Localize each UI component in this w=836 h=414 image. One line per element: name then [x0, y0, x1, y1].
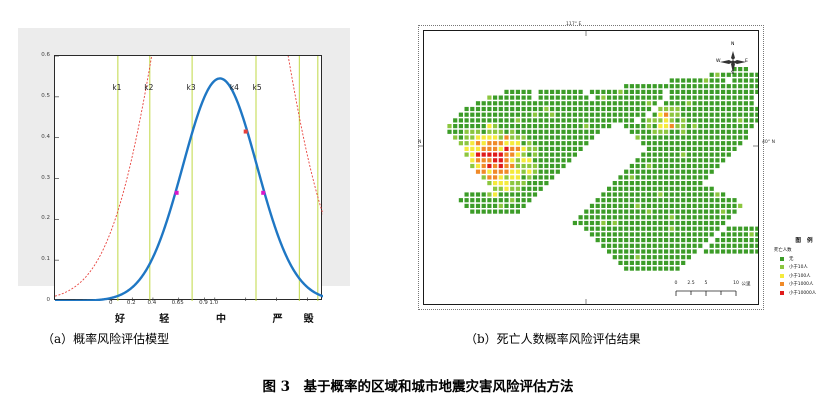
map-grid-cell: [601, 215, 605, 219]
map-grid-cell: [539, 181, 543, 185]
map-grid-cell: [630, 267, 634, 271]
map-grid-cell: [704, 78, 708, 82]
map-grid-cell: [755, 73, 758, 77]
map-grid-cell: [504, 192, 508, 196]
map-grid-cell: [658, 238, 662, 242]
map-grid-cell: [715, 96, 719, 100]
map-coord-left: N: [418, 140, 421, 145]
map-grid-cell: [681, 113, 685, 117]
map-grid-cell: [636, 267, 640, 271]
map-grid-cell: [607, 192, 611, 196]
map-grid-cell: [675, 118, 679, 122]
map-grid-cell: [698, 147, 702, 151]
map-grid-cell: [681, 135, 685, 139]
map-grid-cell: [710, 210, 714, 214]
map-grid-cell: [607, 244, 611, 248]
map-grid-cell: [493, 141, 497, 145]
map-grid-cell: [710, 249, 714, 253]
map-grid-cell: [579, 90, 583, 94]
map-grid-cell: [681, 118, 685, 122]
map-grid-cell: [527, 170, 531, 174]
map-grid-cell: [641, 90, 645, 94]
map-grid-cell: [670, 107, 674, 111]
map-grid-cell: [732, 244, 736, 248]
map-grid-cell: [596, 204, 600, 208]
map-grid-cell: [681, 107, 685, 111]
map-grid-cell: [721, 221, 725, 225]
map-grid-cell: [533, 187, 537, 191]
map-grid-cell: [630, 164, 634, 168]
map-grid-cell: [710, 227, 714, 231]
map-grid-cell: [596, 221, 600, 225]
map-grid-cell: [658, 244, 662, 248]
map-grid-cell: [710, 84, 714, 88]
map-grid-cell: [664, 124, 668, 128]
map-grid-cell: [715, 135, 719, 139]
map-grid-cell: [527, 141, 531, 145]
map-grid-cell: [510, 175, 514, 179]
map-grid-cell: [641, 210, 645, 214]
map-grid-cell: [510, 181, 514, 185]
compass-north-label: N: [731, 42, 734, 47]
map-grid-cell: [698, 175, 702, 179]
map-grid-cell: [647, 130, 651, 134]
map-grid-cell: [664, 135, 668, 139]
map-grid-cell: [670, 227, 674, 231]
map-grid-cell: [516, 141, 520, 145]
map-grid-cell: [698, 198, 702, 202]
map-grid-cell: [698, 192, 702, 196]
map-grid-cell: [687, 130, 691, 134]
map-grid-cell: [544, 96, 548, 100]
map-grid-cell: [693, 124, 697, 128]
map-grid-cell: [641, 267, 645, 271]
map-grid-cell: [664, 101, 668, 105]
map-grid-cell: [607, 124, 611, 128]
map-grid-cell: [504, 113, 508, 117]
map-grid-cell: [590, 135, 594, 139]
map-grid-cell: [664, 118, 668, 122]
map-grid-cell: [470, 164, 474, 168]
map-grid-cell: [744, 90, 748, 94]
map-grid-cell: [727, 198, 731, 202]
map-grid-cell: [710, 232, 714, 236]
map-grid-cell: [504, 90, 508, 94]
map-grid-cell: [493, 124, 497, 128]
map-grid-cell: [693, 84, 697, 88]
map-grid-cell: [613, 90, 617, 94]
map-grid-cell: [710, 90, 714, 94]
map-grid-cell: [476, 130, 480, 134]
map-grid-cell: [476, 198, 480, 202]
map-grid-cell: [704, 187, 708, 191]
map-grid-cell: [550, 158, 554, 162]
map-grid-cell: [698, 153, 702, 157]
map-grid-cell: [732, 147, 736, 151]
map-grid-cell: [647, 96, 651, 100]
map-grid-cell: [504, 170, 508, 174]
map-grid-cell: [522, 192, 526, 196]
map-grid-cell: [476, 210, 480, 214]
map-grid-cell: [715, 244, 719, 248]
map-grid-cell: [504, 210, 508, 214]
map-grid-cell: [624, 238, 628, 242]
map-grid-cell: [459, 130, 463, 134]
map-grid-cell: [527, 175, 531, 179]
map-grid-cell: [584, 227, 588, 231]
map-grid-cell: [715, 130, 719, 134]
map-grid-cell: [487, 101, 491, 105]
map-grid-cell: [539, 141, 543, 145]
y-tick-label: 0.1: [32, 256, 50, 262]
map-grid-cell: [459, 124, 463, 128]
map-grid-cell: [664, 107, 668, 111]
legend-entry: 小于100人: [774, 273, 836, 279]
map-grid-cell: [470, 204, 474, 208]
map-grid-cell: [504, 107, 508, 111]
map-grid-cell: [675, 221, 679, 225]
map-grid-cell: [641, 96, 645, 100]
map-grid-cell: [647, 261, 651, 265]
map-grid-cell: [732, 232, 736, 236]
map-grid-cell: [681, 78, 685, 82]
map-grid-cell: [567, 130, 571, 134]
map-grid-cell: [670, 204, 674, 208]
map-grid-cell: [567, 90, 571, 94]
map-grid-cell: [522, 124, 526, 128]
map-grid-cell: [693, 141, 697, 145]
threshold-label-k5: k5: [252, 83, 261, 92]
map-grid-cell: [641, 192, 645, 196]
map-grid-cell: [539, 147, 543, 151]
map-grid-cells-svg: [424, 31, 758, 304]
map-grid-cell: [693, 147, 697, 151]
map-grid-cell: [499, 210, 503, 214]
map-grid-cell: [618, 192, 622, 196]
map-grid-cell: [579, 135, 583, 139]
map-grid-cell: [664, 204, 668, 208]
map-grid-cell: [618, 181, 622, 185]
map-grid-cell: [641, 101, 645, 105]
map-grid-cell: [681, 141, 685, 145]
map-grid-cell: [533, 124, 537, 128]
map-grid-cell: [567, 113, 571, 117]
map-grid-cell: [550, 153, 554, 157]
map-grid-cell: [533, 181, 537, 185]
map-grid-cell: [493, 147, 497, 151]
map-grid-cell: [755, 227, 758, 231]
map-grid-cell: [465, 204, 469, 208]
map-grid-cell: [715, 124, 719, 128]
map-grid-cell: [687, 175, 691, 179]
map-grid-cell: [618, 227, 622, 231]
map-grid-cell: [584, 124, 588, 128]
map-grid-cell: [744, 101, 748, 105]
map-grid-cell: [493, 96, 497, 100]
map-grid-cell: [487, 107, 491, 111]
map-grid-cell: [653, 249, 657, 253]
map-grid-cell: [487, 210, 491, 214]
map-grid-cell: [698, 244, 702, 248]
map-grid-cell: [664, 215, 668, 219]
map-grid-cell: [550, 101, 554, 105]
map-grid-cell: [664, 187, 668, 191]
map-grid-cell: [601, 90, 605, 94]
map-grid-cell: [459, 135, 463, 139]
map-grid-cell: [658, 249, 662, 253]
map-grid-cell: [516, 181, 520, 185]
map-grid-cell: [561, 90, 565, 94]
map-grid-cell: [664, 153, 668, 157]
map-grid-cell: [527, 90, 531, 94]
map-grid-cell: [693, 101, 697, 105]
map-grid-cell: [613, 221, 617, 225]
map-grid-cell: [658, 118, 662, 122]
map-grid-cell: [624, 210, 628, 214]
map-grid-cell: [567, 158, 571, 162]
map-grid-cell: [573, 118, 577, 122]
x-category-label: 严: [273, 310, 283, 325]
map-grid-cell: [675, 227, 679, 231]
map-grid-cell: [681, 164, 685, 168]
map-grid-cell: [664, 84, 668, 88]
map-grid-cell: [618, 215, 622, 219]
map-grid-cell: [710, 198, 714, 202]
map-grid-cell: [618, 204, 622, 208]
map-grid-cell: [590, 107, 594, 111]
map-grid-cell: [561, 141, 565, 145]
map-grid-cell: [504, 135, 508, 139]
map-grid-cell: [624, 187, 628, 191]
map-grid-cell: [544, 147, 548, 151]
map-grid-cell: [670, 158, 674, 162]
map-grid-cell: [544, 170, 548, 174]
map-grid-cell: [624, 221, 628, 225]
legend-entry-label: 无: [789, 256, 793, 262]
map-grid-cell: [465, 113, 469, 117]
map-grid-cell: [658, 107, 662, 111]
map-grid-cell: [493, 101, 497, 105]
map-grid-cell: [704, 232, 708, 236]
map-grid-cell: [516, 135, 520, 139]
map-grid-cell: [647, 215, 651, 219]
map-grid-cell: [493, 130, 497, 134]
map-grid-cell: [590, 124, 594, 128]
map-grid-cell: [510, 210, 514, 214]
map-grid-cell: [482, 198, 486, 202]
map-grid-cell: [704, 124, 708, 128]
map-grid-cell: [744, 107, 748, 111]
map-grid-cell: [641, 107, 645, 111]
map-grid-cell: [613, 232, 617, 236]
map-grid-cell: [624, 118, 628, 122]
legend-color-swatch: [780, 257, 784, 261]
map-grid-cell: [613, 101, 617, 105]
map-grid-cell: [499, 164, 503, 168]
map-grid-cell: [510, 192, 514, 196]
map-grid-cell: [687, 124, 691, 128]
map-grid-cell: [732, 204, 736, 208]
legend-entry-label: 小于100人: [789, 273, 811, 279]
map-grid-cell: [624, 181, 628, 185]
map-grid-cell: [493, 181, 497, 185]
map-grid-cell: [499, 187, 503, 191]
map-grid-cell: [693, 107, 697, 111]
map-grid-cell: [630, 181, 634, 185]
map-grid-cell: [613, 227, 617, 231]
map-grid-cell: [670, 124, 674, 128]
map-grid-cell: [653, 101, 657, 105]
map-grid-cell: [607, 249, 611, 253]
map-grid-cell: [544, 124, 548, 128]
map-grid-cell: [510, 135, 514, 139]
legend-entry-label: 小于10人: [789, 264, 808, 270]
map-grid-cell: [573, 90, 577, 94]
map-grid-cell: [653, 141, 657, 145]
map-grid-cell: [727, 101, 731, 105]
map-grid-cell: [675, 141, 679, 145]
map-grid-cell: [664, 249, 668, 253]
map-grid-cell: [510, 118, 514, 122]
map-grid-cell: [715, 113, 719, 117]
map-grid-cell: [487, 96, 491, 100]
map-grid-cell: [596, 238, 600, 242]
map-grid-cell: [675, 135, 679, 139]
map-grid-cell: [755, 118, 758, 122]
map-grid-cell: [487, 153, 491, 157]
map-grid-cell: [465, 153, 469, 157]
map-grid-cell: [670, 118, 674, 122]
map-grid-cell: [573, 141, 577, 145]
map-grid-cell: [493, 113, 497, 117]
map-grid-cell: [544, 158, 548, 162]
map-grid-cell: [658, 124, 662, 128]
map-grid-cell: [698, 78, 702, 82]
map-coord-right: 40° N: [762, 140, 775, 145]
map-grid-cell: [658, 210, 662, 214]
map-grid-cell: [630, 118, 634, 122]
map-grid-cell: [750, 90, 754, 94]
map-grid-cell: [476, 192, 480, 196]
map-grid-cell: [641, 158, 645, 162]
map-grid-cell: [630, 238, 634, 242]
map-grid-cell: [710, 187, 714, 191]
map-grid-cell: [653, 147, 657, 151]
map-grid-cell: [750, 78, 754, 82]
map-grid-cell: [630, 130, 634, 134]
map-grid-cell: [601, 244, 605, 248]
map-grid-cell: [636, 192, 640, 196]
map-grid-cell: [721, 244, 725, 248]
map-grid-cell: [556, 107, 560, 111]
map-grid-cell: [533, 164, 537, 168]
map-grid-cell: [636, 175, 640, 179]
map-grid-cell: [687, 181, 691, 185]
map-grid-cell: [732, 198, 736, 202]
map-grid-cell: [693, 153, 697, 157]
map-grid-cell: [499, 158, 503, 162]
map-grid-cell: [596, 232, 600, 236]
map-grid-cell: [658, 227, 662, 231]
map-grid-cell: [721, 158, 725, 162]
map-grid-cell: [499, 175, 503, 179]
map-grid-cell: [493, 198, 497, 202]
map-grid-cell: [658, 84, 662, 88]
map-grid-cell: [522, 187, 526, 191]
map-grid-cell: [727, 118, 731, 122]
map-grid-cell: [664, 181, 668, 185]
map-grid-cell: [470, 158, 474, 162]
map-grid-cell: [601, 107, 605, 111]
map-grid-cell: [675, 164, 679, 168]
map-grid-cell: [624, 198, 628, 202]
map-frame: N E S W 02.5510公里: [423, 30, 759, 305]
map-grid-cell: [653, 118, 657, 122]
map-grid-cell: [732, 113, 736, 117]
map-grid-cell: [715, 158, 719, 162]
map-grid-cell: [539, 175, 543, 179]
map-grid-cell: [670, 187, 674, 191]
map-grid-cell: [675, 158, 679, 162]
map-grid-cell: [561, 107, 565, 111]
map-grid-cell: [476, 141, 480, 145]
map-grid-cell: [641, 187, 645, 191]
map-grid-cell: [744, 78, 748, 82]
map-grid-cell: [499, 153, 503, 157]
map-grid-cell: [618, 255, 622, 259]
map-grid-cell: [613, 210, 617, 214]
map-grid-cell: [681, 181, 685, 185]
map-grid-cell: [698, 181, 702, 185]
map-grid-cell: [704, 210, 708, 214]
map-grid-cell: [561, 101, 565, 105]
map-grid-cell: [539, 124, 543, 128]
map-grid-cell: [476, 118, 480, 122]
map-grid-cell: [596, 96, 600, 100]
map-grid-cell: [647, 90, 651, 94]
map-grid-cell: [641, 227, 645, 231]
map-grid-cell: [630, 244, 634, 248]
map-grid-cell: [670, 210, 674, 214]
map-grid-cell: [727, 153, 731, 157]
map-grid-cell: [630, 249, 634, 253]
map-grid-cell: [658, 141, 662, 145]
map-grid-cell: [636, 107, 640, 111]
map-grid-cell: [698, 164, 702, 168]
map-grid-cell: [698, 101, 702, 105]
map-grid-cell: [561, 147, 565, 151]
map-grid-cell: [630, 187, 634, 191]
map-grid-cell: [721, 78, 725, 82]
map-grid-cell: [727, 204, 731, 208]
map-grid-cell: [596, 130, 600, 134]
map-grid-cell: [579, 147, 583, 151]
map-grid-cell: [647, 84, 651, 88]
map-grid-cell: [516, 107, 520, 111]
map-grid-cell: [482, 130, 486, 134]
legend-title: 图 例: [774, 236, 836, 244]
map-grid-cell: [636, 187, 640, 191]
map-grid-cell: [522, 101, 526, 105]
map-grid-cell: [556, 113, 560, 117]
map-grid-cell: [596, 107, 600, 111]
map-grid-cell: [584, 215, 588, 219]
map-grid-cell: [516, 158, 520, 162]
map-grid-cell: [561, 164, 565, 168]
map-grid-cell: [675, 187, 679, 191]
map-grid-cell: [675, 249, 679, 253]
map-grid-cell: [636, 101, 640, 105]
